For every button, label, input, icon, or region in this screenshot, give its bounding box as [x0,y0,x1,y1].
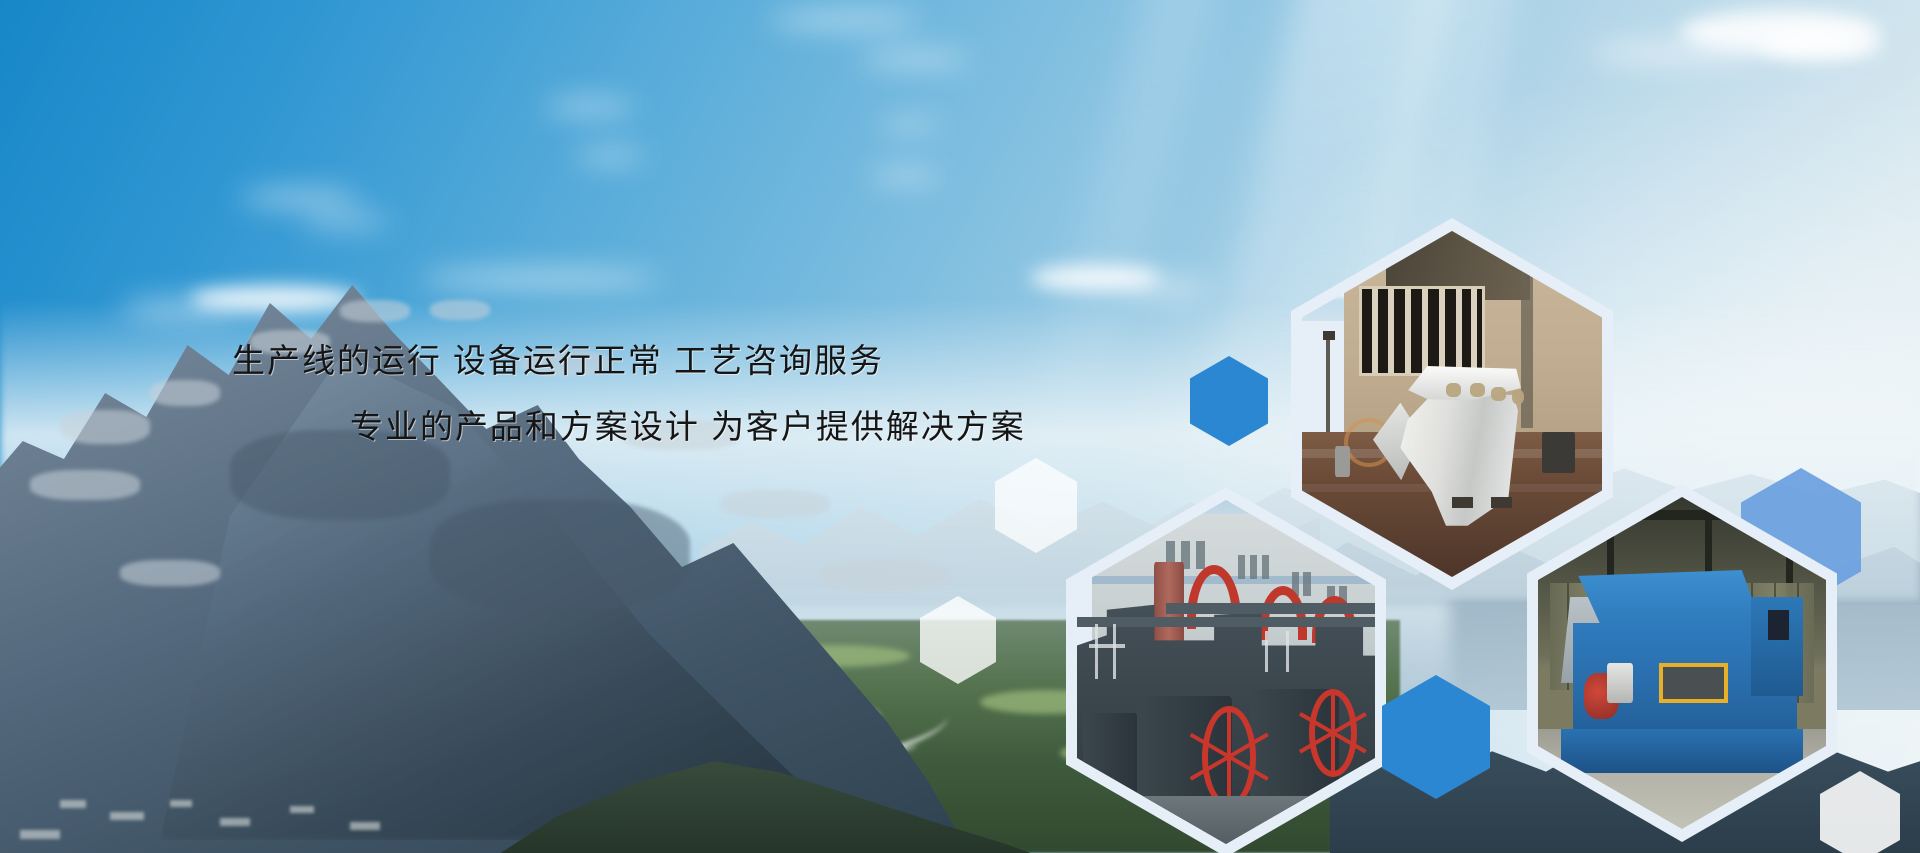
hero-banner: 生产线的运行 设备运行正常 工艺咨询服务 专业的产品和方案设计 为客户提供解决方… [0,0,1920,853]
ladle-equipment-photo [1302,231,1602,577]
press-machinery-photo [1077,500,1375,844]
blue-shredder-photo [1538,497,1826,829]
